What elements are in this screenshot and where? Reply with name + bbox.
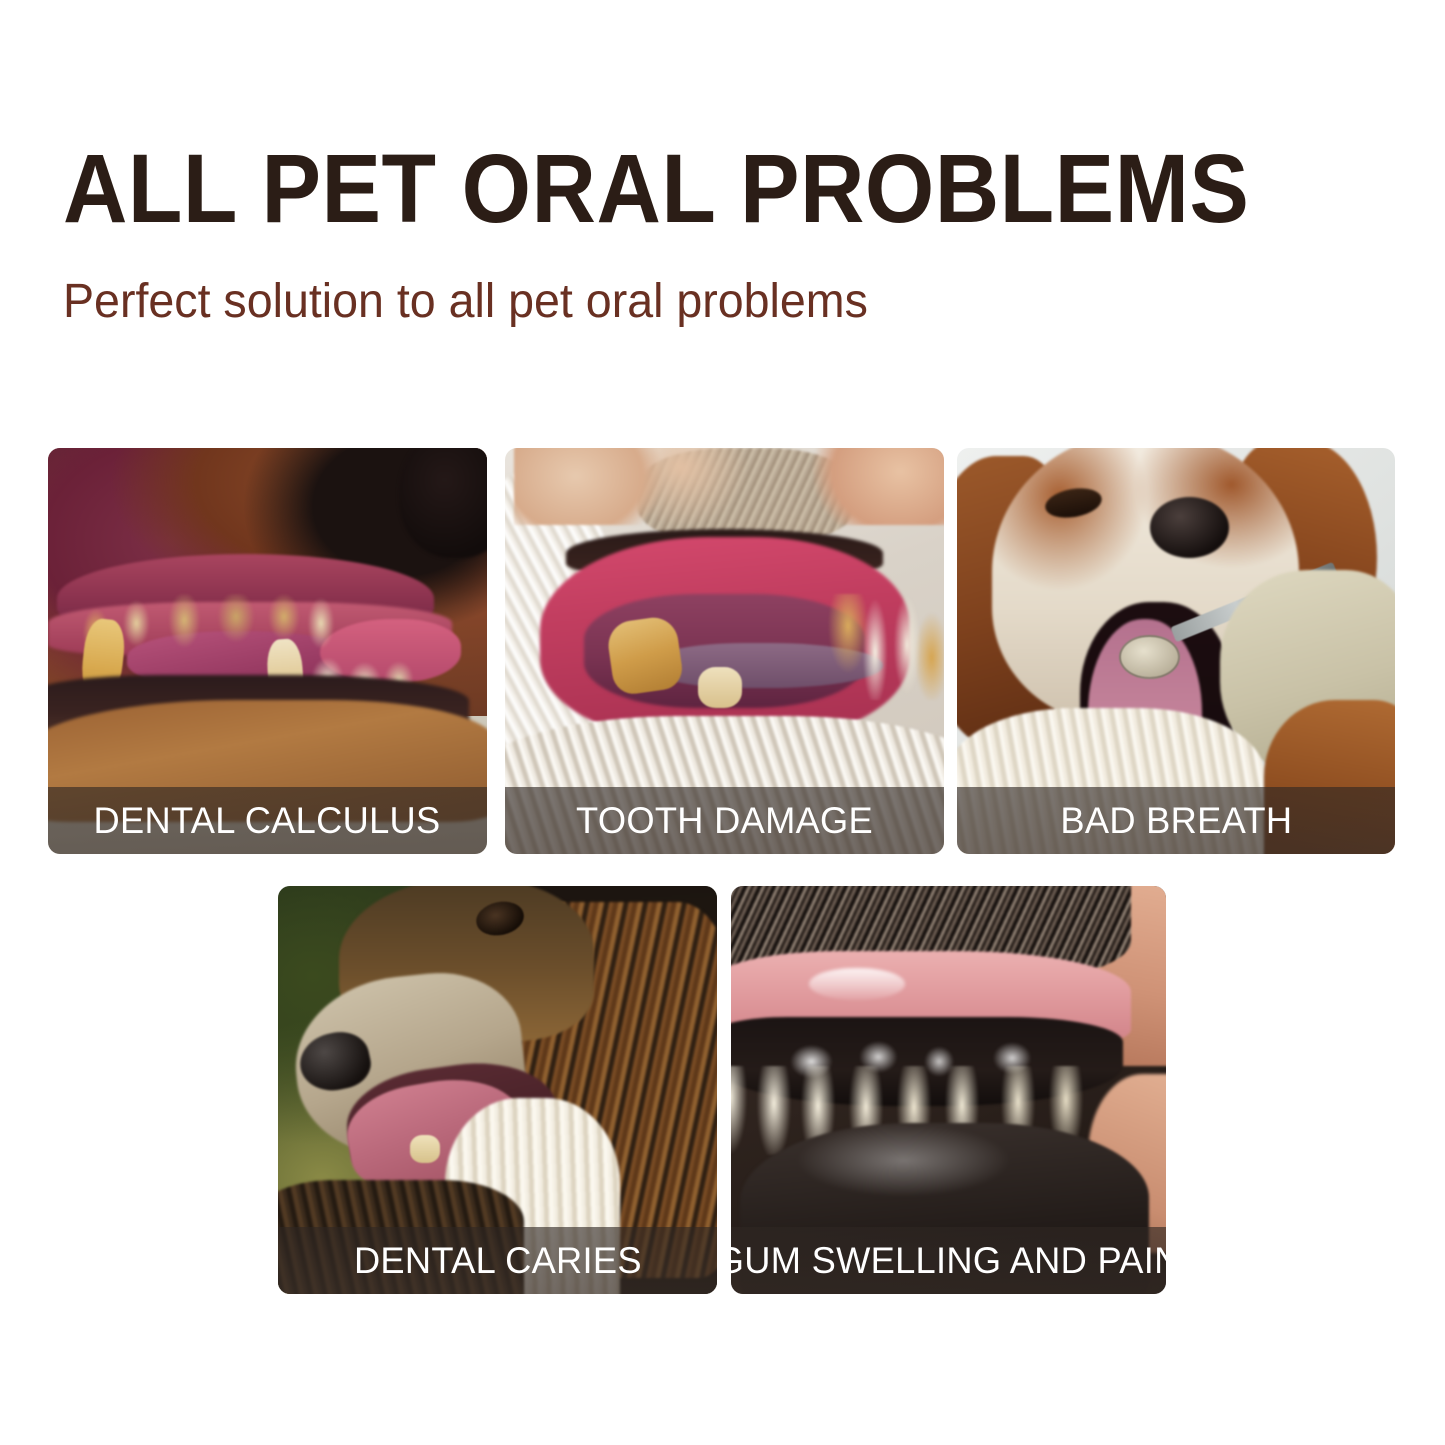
caption-bar: BAD BREATH xyxy=(957,787,1395,854)
caption-bar: GUM SWELLING AND PAIN xyxy=(731,1227,1166,1294)
card-caption: DENTAL CARIES xyxy=(354,1242,642,1279)
page-title: ALL PET ORAL PROBLEMS xyxy=(63,140,1277,237)
gallery-card-dental-calculus[interactable]: DENTAL CALCULUS xyxy=(48,448,487,854)
gallery-card-tooth-damage[interactable]: TOOTH DAMAGE xyxy=(505,448,944,854)
gallery-card-gum-swelling[interactable]: GUM SWELLING AND PAIN xyxy=(731,886,1166,1294)
gallery-card-dental-caries[interactable]: DENTAL CARIES xyxy=(278,886,717,1294)
header-block: ALL PET ORAL PROBLEMS Perfect solution t… xyxy=(63,140,1383,326)
caption-bar: DENTAL CARIES xyxy=(278,1227,717,1294)
card-caption: TOOTH DAMAGE xyxy=(576,802,873,839)
card-caption: DENTAL CALCULUS xyxy=(94,802,441,839)
caption-bar: TOOTH DAMAGE xyxy=(505,787,944,854)
gallery-card-bad-breath[interactable]: BAD BREATH xyxy=(957,448,1395,854)
card-caption: GUM SWELLING AND PAIN xyxy=(731,1242,1166,1279)
card-caption: BAD BREATH xyxy=(1060,802,1292,839)
page-subtitle: Perfect solution to all pet oral problem… xyxy=(63,278,1343,326)
caption-bar: DENTAL CALCULUS xyxy=(48,787,487,854)
